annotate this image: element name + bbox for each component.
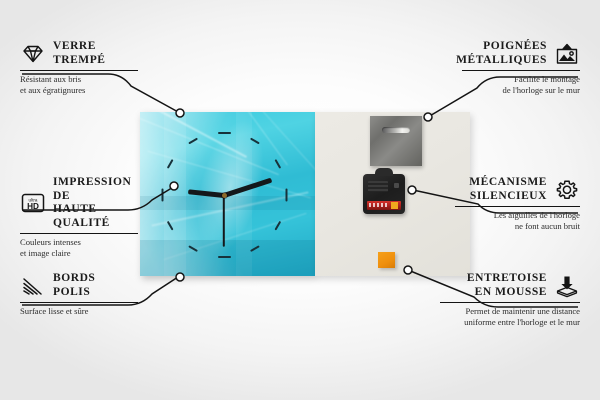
callout-title-line2: HAUTE QUALITÉ [53, 203, 138, 230]
callout-title-line1: BORDS [53, 272, 95, 286]
callout-hd-print: ultra HD IMPRESSION DE HAUTE QUALITÉ Cou… [20, 176, 138, 259]
callout-foam-spacer: ENTRETOISE EN MOUSSE Permet de maintenir… [440, 272, 580, 328]
metal-hanger-plate [370, 116, 422, 166]
hanging-picture-icon [554, 42, 580, 66]
face-tone-band [140, 240, 315, 276]
clock-hour-marker [218, 132, 231, 134]
diamond-icon [20, 42, 46, 66]
clock-back-face [315, 112, 470, 276]
svg-text:HD: HD [27, 202, 39, 211]
mechanism-vent [368, 181, 388, 192]
mechanism-dial [394, 183, 399, 188]
face-tone-band [140, 196, 315, 210]
foam-spacer [378, 252, 395, 268]
callout-rule [462, 70, 580, 71]
product-image [140, 112, 470, 276]
callout-title-line2: MÉTALLIQUES [456, 54, 547, 68]
callout-rule [20, 302, 138, 303]
callout-title-line1: POIGNÉES [456, 40, 547, 54]
clock-center-cap [222, 193, 227, 198]
mechanism-hanging-tab [375, 168, 393, 176]
callout-description: Facilite le montage de l'horloge sur le … [462, 74, 580, 95]
callout-title-line1: IMPRESSION DE [53, 176, 138, 203]
callout-rule [20, 233, 138, 234]
ultra-hd-icon: ultra HD [20, 191, 46, 215]
callout-description: Surface lisse et sûre [20, 306, 138, 317]
callout-rule [440, 302, 580, 303]
callout-description: Les aiguilles de l'horloge ne font aucun… [455, 210, 580, 231]
callout-title-line2: SILENCIEUX [469, 190, 547, 204]
callout-metal-handles: POIGNÉES MÉTALLIQUES Facilite le montage… [462, 40, 580, 96]
bevel-lines-icon [20, 274, 46, 298]
callout-silent-mechanism: MÉCANISME SILENCIEUX Les aiguilles de l'… [455, 176, 580, 232]
clock-front-face [140, 112, 315, 276]
callout-title-line1: MÉCANISME [469, 176, 547, 190]
callout-rule [20, 70, 138, 71]
battery-terminal [391, 202, 398, 209]
callout-title-line2: EN MOUSSE [467, 286, 547, 300]
clock-mechanism-box [363, 174, 405, 214]
callout-title-line1: VERRE [53, 40, 106, 54]
callout-description: Couleurs intenses et image claire [20, 237, 138, 258]
gear-icon [554, 178, 580, 202]
hanger-slot [382, 127, 410, 133]
infographic-canvas: VERRE TREMPÉ Résistant aux bris et aux é… [0, 0, 600, 400]
battery-label [369, 203, 387, 207]
callout-tempered-glass: VERRE TREMPÉ Résistant aux bris et aux é… [20, 40, 138, 96]
arrow-onto-pad-icon [554, 274, 580, 298]
clock-second-hand [223, 195, 225, 247]
battery [367, 201, 401, 210]
callout-polished-edges: BORDS POLIS Surface lisse et sûre [20, 272, 138, 317]
clock-hour-marker [218, 256, 231, 258]
clock-hour-marker [285, 189, 287, 202]
clock-hour-marker [161, 189, 163, 202]
callout-title-line1: ENTRETOISE [467, 272, 547, 286]
callout-rule [455, 206, 580, 207]
callout-title-line2: POLIS [53, 286, 95, 300]
callout-description: Résistant aux bris et aux égratignures [20, 74, 138, 95]
callout-title-line2: TREMPÉ [53, 54, 106, 68]
callout-description: Permet de maintenir une distance uniform… [440, 306, 580, 327]
